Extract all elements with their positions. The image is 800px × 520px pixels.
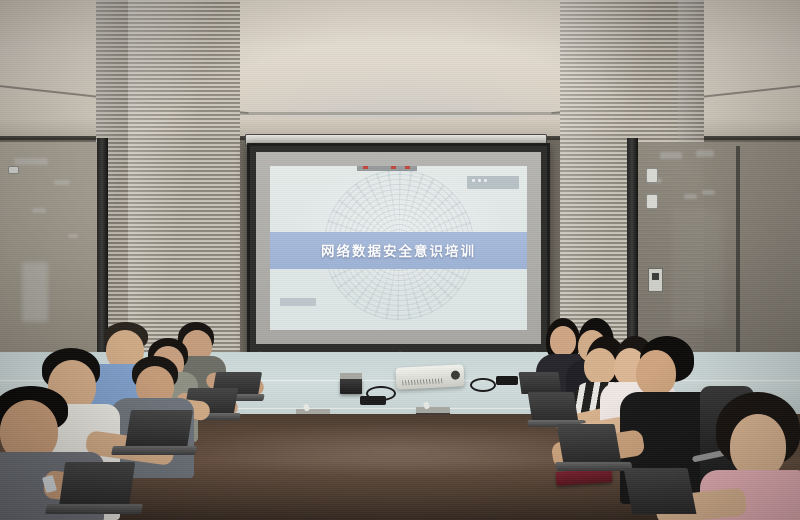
power-adapter <box>496 376 518 385</box>
presentation-slide: 网络数据安全意识培训 <box>270 166 527 330</box>
slide-title: 网络数据安全意识培训 <box>321 240 476 260</box>
laptop[interactable] <box>556 424 621 464</box>
door-sensor-icon <box>646 168 658 183</box>
wall-reflection <box>672 208 724 328</box>
ceiling-light-reflection <box>696 150 714 157</box>
ceiling-light-reflection <box>684 194 697 199</box>
laptop[interactable] <box>518 372 561 394</box>
glass-partition-left <box>0 142 100 370</box>
ceiling-light-reflection <box>14 158 48 165</box>
slide-subtitle-placeholder <box>280 298 316 306</box>
conference-microphone[interactable] <box>340 378 362 394</box>
projection-screen-surface: 网络数据安全意识培训 <box>256 152 541 344</box>
ceiling-light-reflection <box>702 190 715 195</box>
ceiling-light-reflection <box>68 234 78 238</box>
ceiling-camera-icon <box>8 166 19 174</box>
ceiling-light-reflection <box>54 180 70 185</box>
slide-title-band: 网络数据安全意识培训 <box>270 232 527 270</box>
ceiling-light-reflection <box>32 208 46 213</box>
projector-device <box>395 364 464 390</box>
cable-coil <box>470 378 496 392</box>
conference-room-photo: 网络数据安全意识培训 <box>0 0 800 520</box>
glass-door-edge <box>736 146 740 368</box>
laptop[interactable] <box>125 410 193 448</box>
door-sensor-icon <box>646 194 658 209</box>
ceiling-trim-center <box>190 112 610 115</box>
laptop-keyboard[interactable] <box>45 504 143 514</box>
projection-screen: 网络数据安全意识培训 <box>247 143 550 357</box>
laptop-keyboard[interactable] <box>111 446 197 455</box>
laptop[interactable] <box>528 392 579 422</box>
access-control-panel-icon[interactable] <box>648 268 663 292</box>
laptop[interactable] <box>59 462 135 508</box>
slide-top-bar <box>357 166 417 171</box>
slide-logo-placeholder <box>467 176 519 189</box>
laptop[interactable] <box>624 468 697 514</box>
wall-reflection <box>22 262 48 322</box>
cable-bundle <box>360 396 386 405</box>
laptop-keyboard[interactable] <box>555 462 633 471</box>
ceiling-light-reflection <box>660 152 682 159</box>
